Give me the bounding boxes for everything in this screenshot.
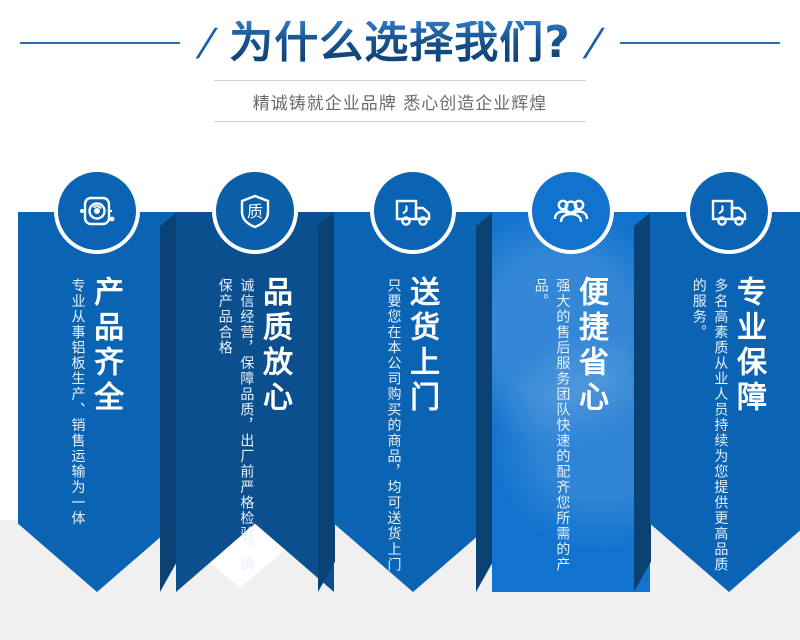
panel-text: 产品齐全 专业从事铝板生产、销售运输为一体	[18, 274, 176, 574]
panel-description: 强大的售后服务团队快速的配齐您所需的产品。	[529, 278, 572, 574]
subtitle-block: 精诚铸就企业品牌 悉心创造企业辉煌	[214, 80, 586, 122]
panel-text: 送货上门 只要您在本公司购买的商品，均可送货上门	[334, 274, 492, 574]
panel-description: 只要您在本公司购买的商品，均可送货上门	[382, 278, 404, 573]
subtitle-divider-bottom	[214, 121, 586, 122]
panel-headline: 送货上门	[406, 276, 437, 416]
feature-ribbon: 产品齐全 专业从事铝板生产、销售运输为一体 质 品质放心 诚信经营，保障品质，出…	[0, 160, 800, 640]
panel-headline: 专业保障	[732, 276, 763, 416]
delivery-truck-icon	[370, 168, 456, 254]
panel-text: 便捷省心 强大的售后服务团队快速的配齐您所需的产品。	[492, 274, 650, 574]
feature-panel-2[interactable]: 质 品质放心 诚信经营，保障品质，出厂前严格检验，确保产品合格	[176, 212, 334, 592]
panel-description: 专业从事铝板生产、销售运输为一体	[66, 278, 88, 526]
svg-text:质: 质	[247, 202, 263, 221]
slash-right-icon: /	[578, 20, 608, 66]
panel-text: 品质放心 诚信经营，保障品质，出厂前严格检验，确保产品合格	[176, 274, 334, 574]
panel-headline: 品质放心	[258, 276, 289, 416]
title-rule-right	[620, 42, 780, 44]
panel-description: 多名高素质从业人员持续为您提供更高品质的服务。	[687, 278, 730, 574]
quality-shield-icon: 质	[212, 168, 298, 254]
team-people-icon	[528, 168, 614, 254]
panel-description: 诚信经营，保障品质，出厂前严格检验，确保产品合格	[213, 278, 256, 574]
feature-panel-5[interactable]: 专业保障 多名高素质从业人员持续为您提供更高品质的服务。	[650, 212, 800, 592]
slash-left-icon: /	[192, 20, 222, 66]
panel-text: 专业保障 多名高素质从业人员持续为您提供更高品质的服务。	[650, 274, 800, 574]
page-header: / 为什么选择我们? / 精诚铸就企业品牌 悉心创造企业辉煌	[0, 0, 800, 150]
title-rule-left	[20, 42, 180, 44]
page-title: 为什么选择我们?	[219, 21, 581, 65]
page-subtitle: 精诚铸就企业品牌 悉心创造企业辉煌	[214, 81, 586, 121]
feature-panel-3[interactable]: 送货上门 只要您在本公司购买的商品，均可送货上门	[334, 212, 492, 592]
panel-headline: 便捷省心	[574, 276, 605, 416]
feature-panel-1[interactable]: 产品齐全 专业从事铝板生产、销售运输为一体	[18, 212, 176, 592]
feature-panel-4[interactable]: 便捷省心 强大的售后服务团队快速的配齐您所需的产品。	[492, 212, 650, 592]
panel-headline: 产品齐全	[90, 276, 121, 416]
delivery-truck-icon	[686, 168, 772, 254]
title-row: / 为什么选择我们? /	[0, 14, 800, 72]
product-box-icon	[54, 168, 140, 254]
